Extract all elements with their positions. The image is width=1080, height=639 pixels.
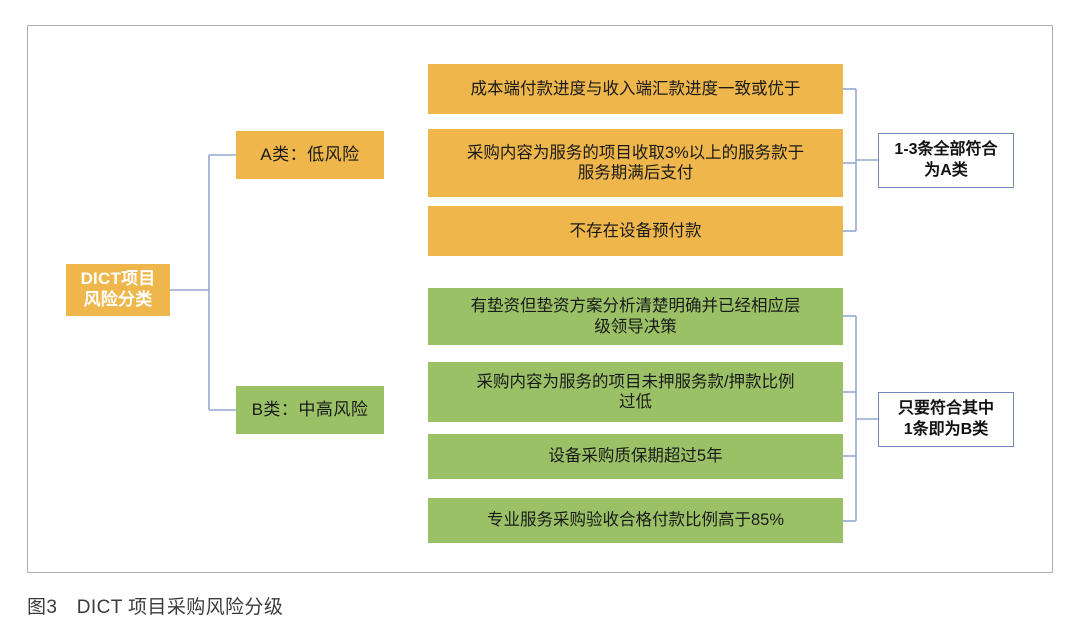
- result-node-b[interactable]: 只要符合其中 1条即为B类: [878, 392, 1014, 447]
- condition-b-2[interactable]: 采购内容为服务的项目未押服务款/押款比例 过低: [428, 362, 843, 422]
- condition-a-3[interactable]: 不存在设备预付款: [428, 206, 843, 256]
- category-node-b[interactable]: B类：中高风险: [236, 386, 384, 434]
- result-node-a[interactable]: 1-3条全部符合 为A类: [878, 133, 1014, 188]
- root-node-dict-risk-classification[interactable]: DICT项目 风险分类: [66, 264, 170, 316]
- condition-a-1[interactable]: 成本端付款进度与收入端汇款进度一致或优于: [428, 64, 843, 114]
- condition-b-3[interactable]: 设备采购质保期超过5年: [428, 434, 843, 479]
- category-node-a[interactable]: A类：低风险: [236, 131, 384, 179]
- figure-caption: 图3 DICT 项目采购风险分级: [27, 592, 283, 619]
- risk-classification-diagram: DICT项目 风险分类 A类：低风险 B类：中高风险 成本端付款进度与收入端汇款…: [0, 0, 1080, 580]
- condition-a-2[interactable]: 采购内容为服务的项目收取3%以上的服务款于 服务期满后支付: [428, 129, 843, 197]
- condition-b-1[interactable]: 有垫资但垫资方案分析清楚明确并已经相应层 级领导决策: [428, 288, 843, 345]
- condition-b-4[interactable]: 专业服务采购验收合格付款比例高于85%: [428, 498, 843, 543]
